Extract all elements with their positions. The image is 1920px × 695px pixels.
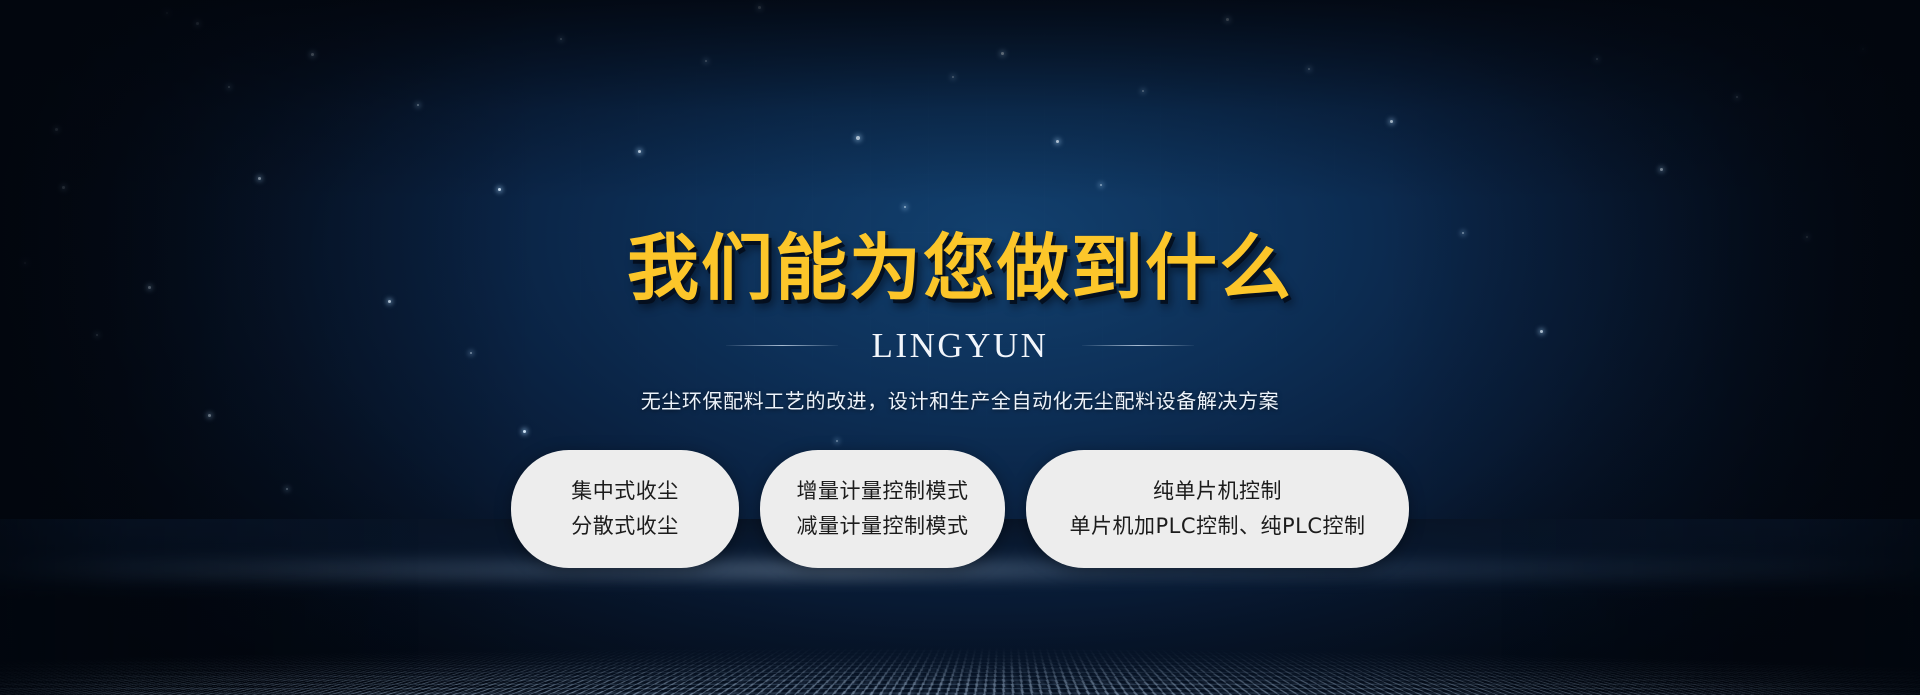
- feature-card-line: 减量计量控制模式: [797, 516, 969, 537]
- feature-card[interactable]: 集中式收尘 分散式收尘: [511, 450, 739, 568]
- feature-card-line: 纯单片机控制: [1153, 481, 1282, 502]
- hero-banner: 我们能为您做到什么 LINGYUN 无尘环保配料工艺的改进，设计和生产全自动化无…: [0, 0, 1920, 695]
- feature-card[interactable]: 增量计量控制模式 减量计量控制模式: [760, 450, 1005, 568]
- feature-card-line: 增量计量控制模式: [797, 481, 969, 502]
- tagline: 无尘环保配料工艺的改进，设计和生产全自动化无尘配料设备解决方案: [641, 385, 1280, 414]
- feature-card-line: 分散式收尘: [571, 516, 679, 537]
- feature-card-list: 集中式收尘 分散式收尘 增量计量控制模式 减量计量控制模式 纯单片机控制 单片机…: [511, 450, 1409, 568]
- brand-name: LINGYUN: [872, 328, 1049, 363]
- feature-card-line: 单片机加PLC控制、纯PLC控制: [1069, 516, 1365, 537]
- banner-content: 我们能为您做到什么 LINGYUN 无尘环保配料工艺的改进，设计和生产全自动化无…: [0, 0, 1920, 695]
- feature-card[interactable]: 纯单片机控制 单片机加PLC控制、纯PLC控制: [1026, 450, 1409, 568]
- page-title: 我们能为您做到什么: [627, 232, 1293, 304]
- brand-row: LINGYUN: [726, 328, 1195, 363]
- feature-card-line: 集中式收尘: [571, 481, 679, 502]
- divider-right: [1082, 345, 1194, 346]
- divider-left: [726, 345, 838, 346]
